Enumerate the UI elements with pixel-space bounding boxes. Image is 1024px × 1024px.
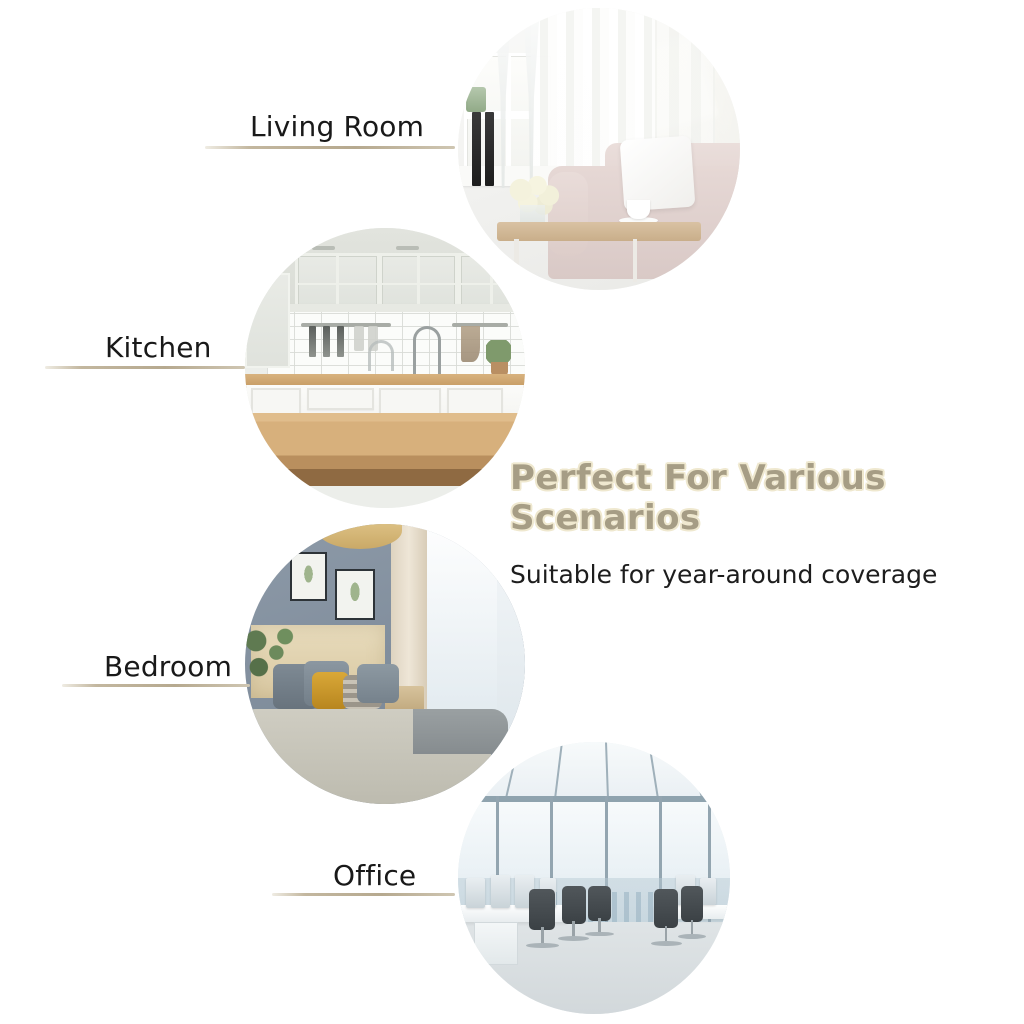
scenario-rule-bedroom [62,684,250,687]
scenario-label-office: Office [333,859,416,892]
scenario-label-bedroom: Bedroom [104,650,232,683]
headline: Perfect For Various Scenarios [510,458,930,538]
scenario-label-kitchen: Kitchen [105,331,212,364]
scenario-rule-kitchen [45,366,245,369]
subheadline: Suitable for year-around coverage [510,560,937,589]
scenario-label-living-room: Living Room [250,110,424,143]
scene-image-kitchen [245,228,525,508]
scenario-rule-living-room [205,146,455,149]
scene-image-office [458,742,730,1014]
infographic-canvas: Living Room [0,0,1024,1024]
scenario-rule-office [272,893,455,896]
